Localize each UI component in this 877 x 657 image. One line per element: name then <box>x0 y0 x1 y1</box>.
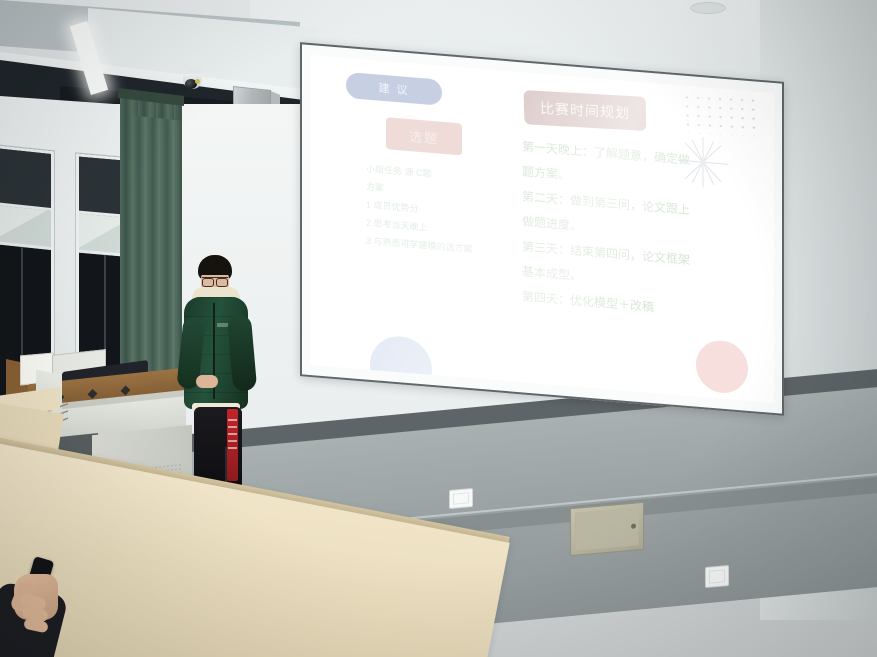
outlet-socket-icon <box>453 492 469 504</box>
slide-right-column: 第一天晚上：了解题意，确定做 题方案。 第二天：做到第三问，论文跟上 做题进度。… <box>522 134 712 325</box>
slide-title-badge: 比赛时间规划 <box>524 90 647 131</box>
diamond-icon <box>121 385 131 395</box>
slide-left-column: 小组任务 源 C题 方案 1 成员优势分 2 思考当天晚上 3 与熟悉可学建模的… <box>366 160 516 262</box>
pants-side-stripe <box>227 409 238 481</box>
outlet-socket-icon <box>709 569 725 583</box>
diamond-icon <box>88 389 98 399</box>
glasses-icon <box>202 277 228 285</box>
ceiling-vent <box>690 2 726 14</box>
pink-circle-decoration <box>696 339 748 395</box>
panel-inset <box>575 507 639 551</box>
window-reflection <box>0 205 47 244</box>
slide-badge-topic: 选题 <box>386 117 462 155</box>
slide-canvas: 建 议 选题 比赛时间规划 小组任务 源 C题 方案 1 成员优势分 2 思考当… <box>310 55 774 403</box>
outlet-right[interactable] <box>705 565 729 588</box>
window-mid-pane <box>0 205 51 250</box>
projection-screen: 建 议 选题 比赛时间规划 小组任务 源 C题 方案 1 成员优势分 2 思考当… <box>300 42 784 416</box>
camera-led-icon <box>195 79 200 84</box>
utility-access-panel[interactable] <box>570 502 644 556</box>
stripe-lettering <box>228 419 237 453</box>
dot-grid-icon <box>681 93 756 137</box>
hands <box>196 375 218 388</box>
window-top-pane <box>0 148 51 211</box>
outlet-center[interactable] <box>449 488 473 509</box>
classroom-presentation-photo: 建 议 选题 比赛时间规划 小组任务 源 C题 方案 1 成员优势分 2 思考当… <box>0 0 877 657</box>
hair-fringe <box>199 264 231 275</box>
slide-tab-chip: 建 议 <box>346 72 442 106</box>
